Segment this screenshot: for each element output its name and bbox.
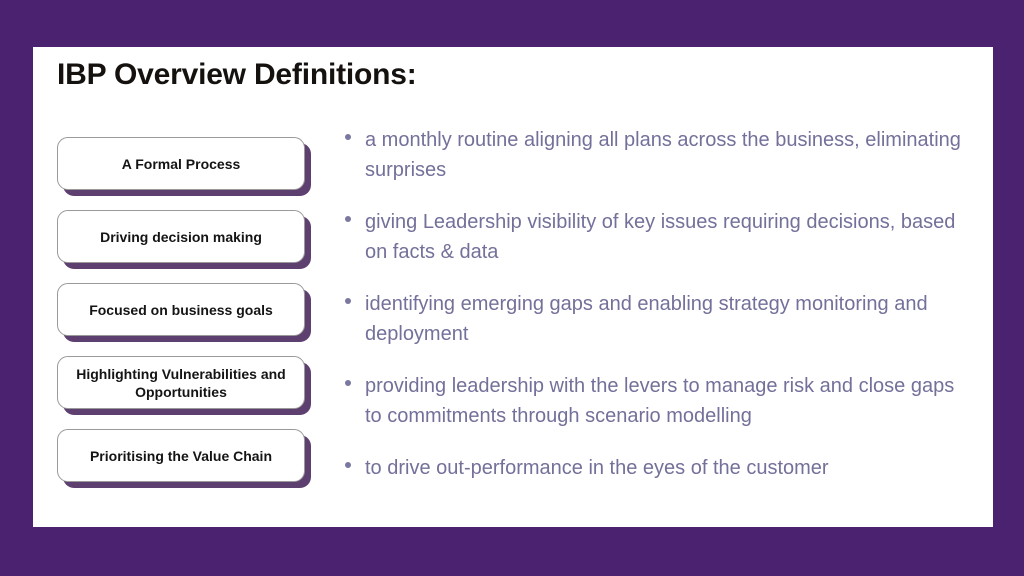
list-item: identifying emerging gaps and enabling s… <box>345 289 965 349</box>
label-box-text: Highlighting Vulnerabilities and Opportu… <box>58 365 304 401</box>
label-box-driving-decision-making[interactable]: Driving decision making <box>57 210 305 263</box>
bullet-dot-icon <box>345 371 365 386</box>
slide-canvas: IBP Overview Definitions: A Formal Proce… <box>0 0 1024 576</box>
bullet-list: a monthly routine aligning all plans acr… <box>345 125 965 483</box>
label-box-focused-on-business-goals[interactable]: Focused on business goals <box>57 283 305 336</box>
label-box-column: A Formal Process Driving decision making… <box>57 137 319 482</box>
label-box-a-formal-process[interactable]: A Formal Process <box>57 137 305 190</box>
label-box-text: A Formal Process <box>114 155 249 173</box>
page-title: IBP Overview Definitions: <box>57 58 417 92</box>
bullet-text: a monthly routine aligning all plans acr… <box>365 125 965 185</box>
list-item: giving Leadership visibility of key issu… <box>345 207 965 267</box>
label-box-text: Prioritising the Value Chain <box>82 447 280 465</box>
list-item: to drive out-performance in the eyes of … <box>345 453 965 483</box>
list-item: providing leadership with the levers to … <box>345 371 965 431</box>
bullet-text: providing leadership with the levers to … <box>365 371 965 431</box>
bullet-dot-icon <box>345 289 365 304</box>
content-area: A Formal Process Driving decision making… <box>33 125 993 525</box>
bullet-dot-icon <box>345 453 365 468</box>
label-box-text: Focused on business goals <box>81 301 281 319</box>
bullet-text: identifying emerging gaps and enabling s… <box>365 289 965 349</box>
label-box-text: Driving decision making <box>92 228 270 246</box>
bullet-dot-icon <box>345 125 365 140</box>
slide-content-card: IBP Overview Definitions: A Formal Proce… <box>33 47 993 527</box>
bullet-text: giving Leadership visibility of key issu… <box>365 207 965 267</box>
label-box-highlighting-vulnerabilities[interactable]: Highlighting Vulnerabilities and Opportu… <box>57 356 305 409</box>
list-item: a monthly routine aligning all plans acr… <box>345 125 965 185</box>
bullet-text: to drive out-performance in the eyes of … <box>365 453 965 483</box>
bullet-dot-icon <box>345 207 365 222</box>
label-box-prioritising-value-chain[interactable]: Prioritising the Value Chain <box>57 429 305 482</box>
